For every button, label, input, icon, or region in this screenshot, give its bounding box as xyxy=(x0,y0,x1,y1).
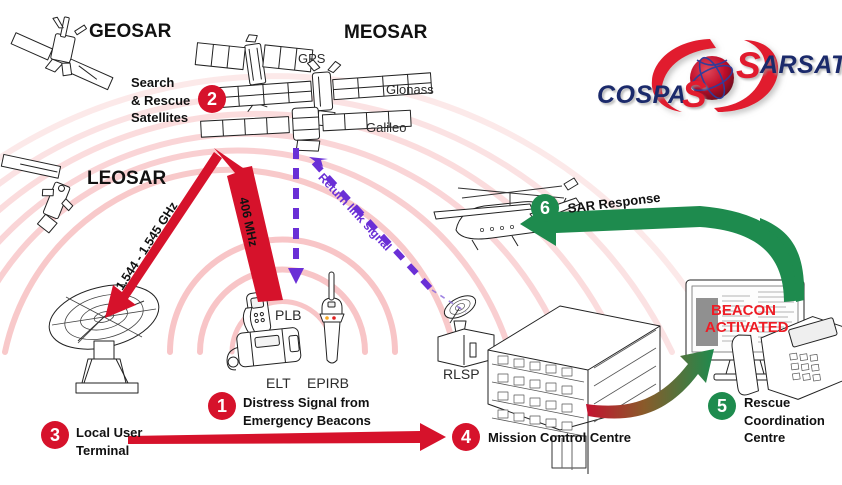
step-label-4: Mission Control Centre xyxy=(488,431,631,446)
screen-alert-beacon: BEACON xyxy=(711,303,776,320)
step-badge-2[interactable]: 2 xyxy=(198,85,226,113)
step-badge-6[interactable]: 6 xyxy=(531,194,559,222)
label-leosar: LEOSAR xyxy=(87,168,166,189)
label-galileo: Galileo xyxy=(366,121,406,136)
label-plb: PLB xyxy=(275,308,301,324)
label-elt: ELT xyxy=(266,376,291,392)
step-label-1: Distress Signal from Emergency Beacons xyxy=(243,394,371,429)
step-badge-3[interactable]: 3 xyxy=(41,421,69,449)
logo-text-arsat: ARSAT xyxy=(760,51,842,80)
label-glonass: Glonass xyxy=(386,83,434,98)
label-search-rescue-satellites: Search & Rescue Satellites xyxy=(131,74,190,127)
label-gps: GPS xyxy=(298,52,325,67)
label-geosar: GEOSAR xyxy=(89,21,171,42)
label-epirb: EPIRB xyxy=(307,376,349,392)
cospas-sarsat-system-diagram: COSPA S S ARSAT GEOSAR MEOSAR LEOSAR Sea… xyxy=(0,0,842,485)
step-badge-5[interactable]: 5 xyxy=(708,392,736,420)
logo-text-cospa: COSPA xyxy=(597,81,687,110)
label-rlsp: RLSP xyxy=(443,367,480,383)
screen-alert-activated: ACTIVATED xyxy=(705,320,789,337)
step-label-5: Rescue Coordination Centre xyxy=(744,394,825,447)
step-label-3: Local User Terminal xyxy=(76,424,142,459)
label-meosar: MEOSAR xyxy=(344,22,427,43)
step-badge-4[interactable]: 4 xyxy=(452,423,480,451)
step-badge-1[interactable]: 1 xyxy=(208,392,236,420)
logo-text-cospas-s: S xyxy=(682,74,707,116)
logo-text-sarsat-s: S xyxy=(736,45,761,87)
